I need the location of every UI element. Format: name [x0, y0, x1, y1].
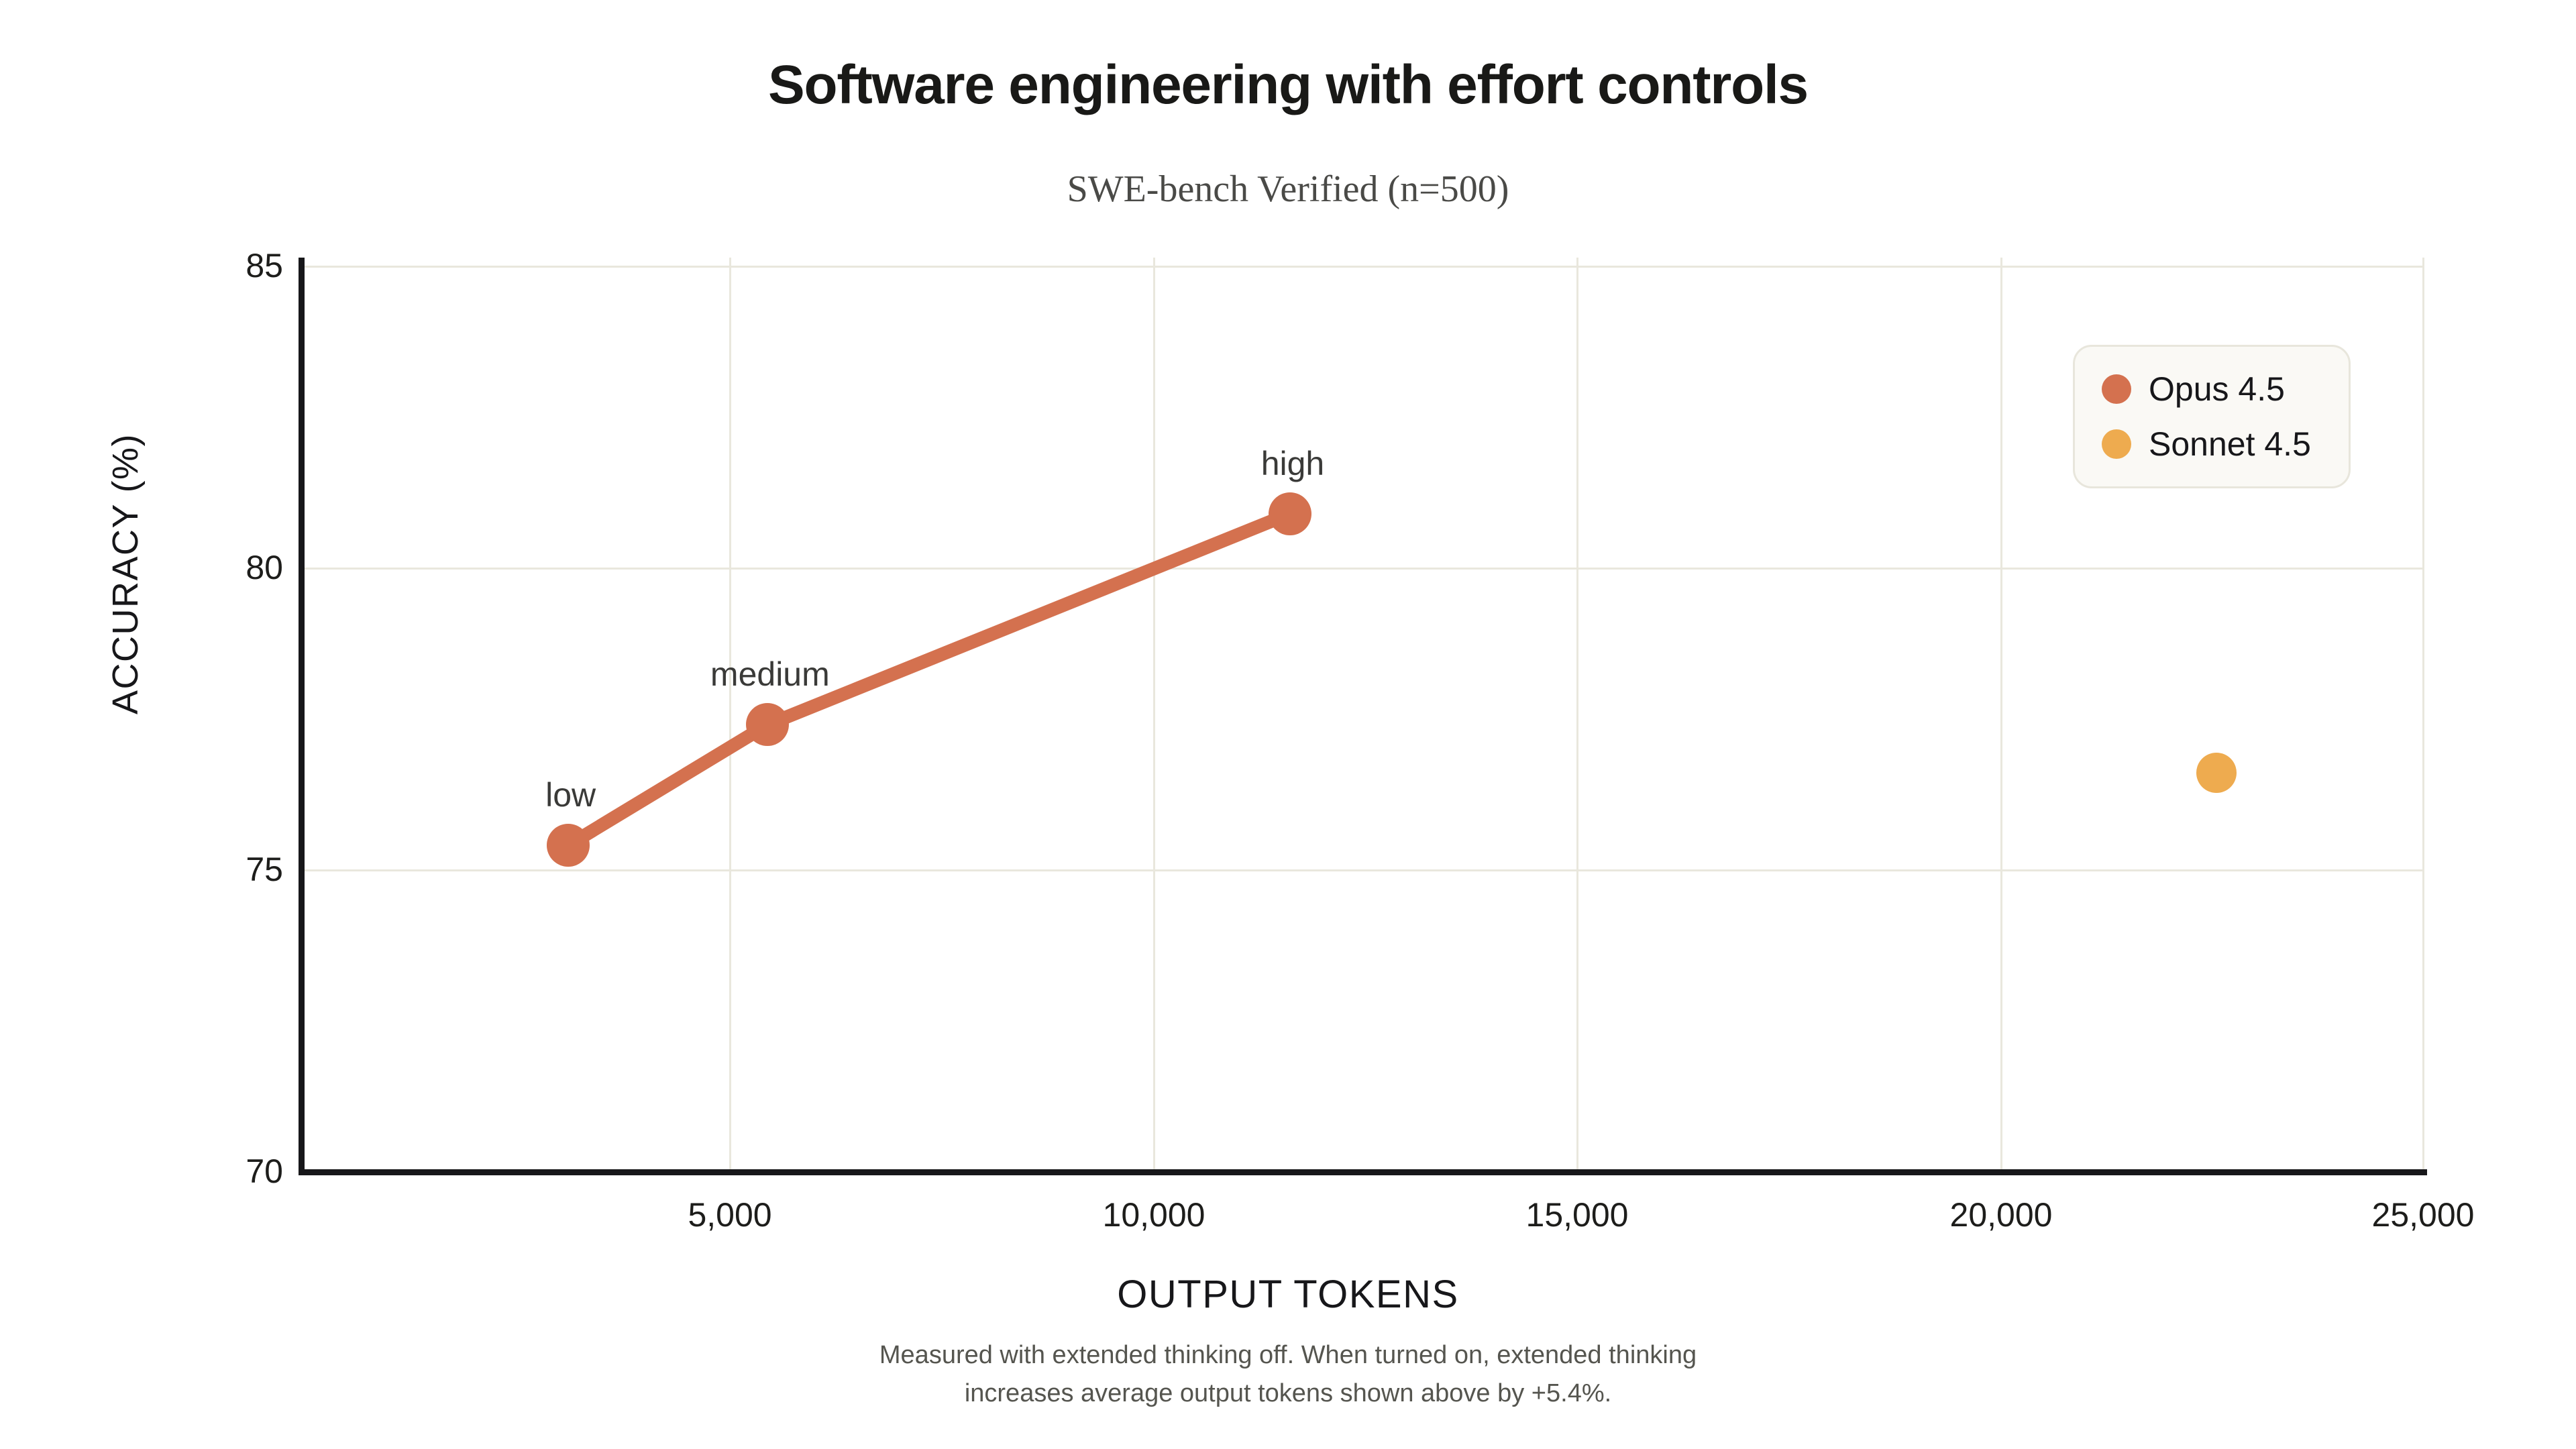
y-tick-label-70: 70: [246, 1152, 283, 1191]
data-label-medium: medium: [710, 655, 830, 694]
data-label-high: high: [1261, 444, 1325, 483]
x-tick-label-15000: 15,000: [1526, 1195, 1629, 1234]
x-axis-title: OUTPUT TOKENS: [0, 1272, 2576, 1317]
y-tick-label-80: 80: [246, 548, 283, 587]
chart-canvas: Software engineering with effort control…: [0, 0, 2576, 1449]
x-tick-label-20000: 20,000: [1950, 1195, 2053, 1234]
y-tick-label-75: 75: [246, 850, 283, 889]
legend-label-opus: Opus 4.5: [2149, 370, 2285, 409]
data-point-opus-high[interactable]: [1269, 492, 1311, 535]
chart-title: Software engineering with effort control…: [0, 56, 2576, 114]
gridline-x-25000: [2422, 258, 2424, 1171]
chart-footnote: Measured with extended thinking off. Whe…: [0, 1336, 2576, 1413]
x-axis-line: [299, 1169, 2427, 1175]
x-tick-label-25000: 25,000: [2372, 1195, 2475, 1234]
gridline-y-80: [303, 568, 2424, 570]
footnote-line-1: Measured with extended thinking off. Whe…: [0, 1336, 2576, 1375]
y-tick-label-85: 85: [246, 246, 283, 285]
gridline-x-5000: [729, 258, 731, 1171]
data-point-opus-low[interactable]: [547, 824, 590, 867]
legend-label-sonnet: Sonnet 4.5: [2149, 425, 2311, 464]
chart-legend: Opus 4.5 Sonnet 4.5: [2073, 345, 2351, 488]
data-label-low: low: [545, 775, 596, 814]
legend-item-opus[interactable]: Opus 4.5: [2102, 362, 2349, 417]
gridline-y-75: [303, 869, 2424, 871]
chart-subtitle: SWE-bench Verified (n=500): [0, 169, 2576, 211]
x-tick-label-5000: 5,000: [688, 1195, 771, 1234]
gridline-x-20000: [2000, 258, 2002, 1171]
y-axis-title: ACCURACY (%): [105, 433, 146, 714]
footnote-line-2: increases average output tokens shown ab…: [0, 1375, 2576, 1413]
data-point-opus-medium[interactable]: [746, 703, 789, 746]
gridline-y-85: [303, 266, 2424, 268]
legend-swatch-opus-icon: [2102, 374, 2131, 404]
legend-item-sonnet[interactable]: Sonnet 4.5: [2102, 417, 2349, 472]
gridline-x-15000: [1576, 258, 1578, 1171]
data-point-sonnet[interactable]: [2196, 753, 2237, 793]
y-axis-line: [299, 258, 305, 1175]
x-tick-label-10000: 10,000: [1103, 1195, 1205, 1234]
legend-swatch-sonnet-icon: [2102, 429, 2131, 459]
gridline-x-10000: [1153, 258, 1155, 1171]
